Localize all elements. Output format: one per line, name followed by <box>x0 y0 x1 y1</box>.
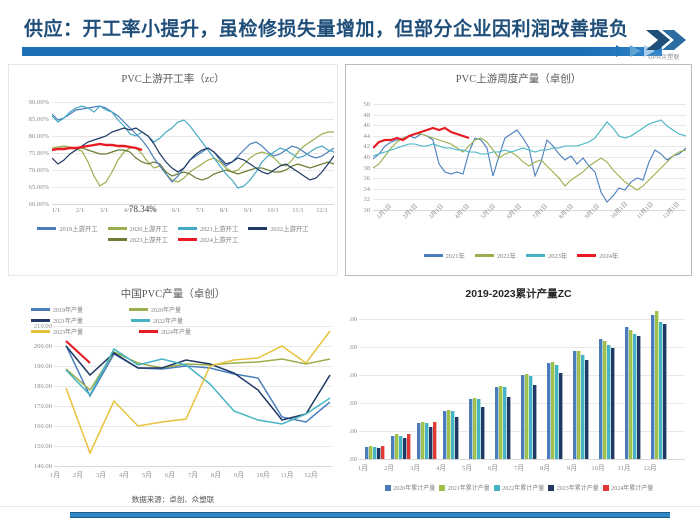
y-axis-tick: 90.00% <box>11 99 49 106</box>
x-axis-tick: 7/1 <box>189 207 211 214</box>
y-axis-tick: 65.00% <box>11 184 49 191</box>
x-axis-tick: 10/1 <box>261 207 285 214</box>
legend-swatch-icon <box>603 485 609 491</box>
source-note: 数据来源：卓创、众塑联 <box>8 494 338 505</box>
legend-label: 2023年累计产量 <box>557 483 599 492</box>
x-axis-tick: 11月 <box>611 462 637 472</box>
legend-item[interactable]: 2021上游开工 <box>178 224 238 233</box>
y-axis-tick: .00 <box>343 372 357 379</box>
legend-item[interactable]: 2024年累计产量 <box>603 483 654 492</box>
x-axis-tick: 9月 <box>559 462 585 472</box>
x-axis-tick: 10月 <box>251 469 275 479</box>
x-axis-tick: 3月 <box>90 469 112 479</box>
legend-label: 2022上游开工 <box>270 224 308 233</box>
legend-label: 2020上游开工 <box>130 224 168 233</box>
legend-swatch-icon <box>439 485 445 491</box>
y-axis-tick: .00 <box>343 428 357 435</box>
x-axis-tick: 12月 <box>637 462 663 472</box>
y-axis-tick: 30 <box>348 207 370 214</box>
x-axis-line <box>52 204 334 205</box>
x-axis-tick: 8月 <box>533 462 557 472</box>
legend-item[interactable]: 2024年 <box>577 251 618 260</box>
logo-text: UPA众塑联 <box>636 52 692 61</box>
legend-label: 2021年累计产量 <box>448 483 490 492</box>
x-axis-tick: 1月 <box>351 462 375 472</box>
chart1-plot <box>52 102 334 204</box>
title-accent-bar <box>22 47 662 56</box>
legend-swatch-icon <box>108 238 127 241</box>
legend-label: 2022年 <box>497 251 516 260</box>
legend-item[interactable]: 2020上游开工 <box>108 224 168 233</box>
x-axis-line <box>54 466 332 467</box>
slide-header: 供应：开工率小提升，虽检修损失量增加，但部分企业因利润改善提负 UPA众塑联 <box>0 0 700 62</box>
y-axis-tick: 42 <box>348 143 370 150</box>
x-axis-tick: 3/1 <box>93 207 115 214</box>
y-axis-tick: 44 <box>348 133 370 140</box>
chart-title: 中国PVC产量（卓创） <box>8 280 338 301</box>
legend-swatch-icon <box>129 308 148 311</box>
legend-swatch-icon <box>37 227 56 230</box>
legend-swatch-icon <box>108 227 127 230</box>
legend-item[interactable]: 2023年 <box>526 251 567 260</box>
legend-swatch-icon <box>31 308 50 311</box>
legend-swatch-icon <box>178 227 197 230</box>
y-axis-tick: 38 <box>348 165 370 172</box>
legend-label: 2023上游开工 <box>130 235 168 244</box>
legend-label: 2020年产量 <box>151 305 181 314</box>
y-axis-tick: .00 <box>343 400 357 407</box>
legend-label: 2024年累计产量 <box>611 483 653 492</box>
page-title: 供应：开工率小提升，虽检修损失量增加，但部分企业因利润改善提负 <box>24 14 684 41</box>
x-axis-tick: 7月 <box>182 469 204 479</box>
bar-group <box>365 311 666 459</box>
y-axis-tick: 85.00% <box>11 116 49 123</box>
legend-item[interactable]: 2020年累计产量 <box>385 483 436 492</box>
legend-label: 2021年 <box>446 251 465 260</box>
y-axis-tick: 34 <box>348 186 370 193</box>
legend-swatch-icon <box>548 485 554 491</box>
chart-title: PVC上游开工率（zc） <box>9 65 337 86</box>
x-axis-tick: 4月 <box>429 462 453 472</box>
y-axis-tick: 80.00% <box>11 133 49 140</box>
legend-item[interactable]: 2020年产量 <box>129 305 227 314</box>
y-axis-tick: 210.00 <box>10 323 52 330</box>
x-axis-tick: 5月 <box>136 469 158 479</box>
x-axis-tick: 10月 <box>585 462 611 472</box>
x-axis-tick: 4/1 <box>117 207 139 214</box>
y-axis-tick: .00 <box>343 344 357 351</box>
chart1-legend: 2019上游开工 2020上游开工 2021上游开工 2022上游开工 2023… <box>23 223 323 245</box>
x-axis-tick: 7月 <box>507 462 531 472</box>
footer-divider <box>0 506 700 507</box>
legend-swatch-icon <box>31 330 50 333</box>
x-axis-tick: 8月 <box>205 469 227 479</box>
legend-label: 2024上游开工 <box>200 235 238 244</box>
chart2-plot <box>373 104 686 210</box>
x-axis-tick: 2月 <box>377 462 401 472</box>
legend-item[interactable]: 2022年产量 <box>131 316 219 325</box>
legend-item[interactable]: 2019年产量 <box>31 305 119 314</box>
legend-item[interactable]: 2022上游开工 <box>248 224 308 233</box>
x-axis-tick: 8/1 <box>213 207 235 214</box>
x-axis-tick: 5/1 <box>141 207 163 214</box>
legend-label: 2023年 <box>548 251 567 260</box>
legend-label: 2020年累计产量 <box>393 483 435 492</box>
x-axis-tick: 9月 <box>228 469 250 479</box>
legend-item[interactable]: 2021年 <box>424 251 465 260</box>
legend-swatch-icon <box>475 254 494 257</box>
y-axis-tick: 50 <box>348 101 370 108</box>
y-axis-tick: 200.00 <box>10 343 52 350</box>
legend-label: 2021上游开工 <box>200 224 238 233</box>
legend-swatch-icon <box>385 485 391 491</box>
y-axis-tick: 70.00% <box>11 167 49 174</box>
x-axis-tick: 1/1 <box>45 207 67 214</box>
x-axis-tick: 5月 <box>455 462 479 472</box>
legend-label: 2024年 <box>599 251 618 260</box>
x-axis-tick: 2月 <box>67 469 89 479</box>
legend-swatch-icon <box>131 319 150 322</box>
legend-item[interactable]: 2021年累计产量 <box>439 483 490 492</box>
y-axis-tick: 180.00 <box>10 383 52 390</box>
chart2-legend: 2021年 2022年 2023年 2024年 <box>386 250 656 261</box>
legend-item[interactable]: 2022年累计产量 <box>494 483 545 492</box>
chart-panel-cumulative-output: 2019-2023累计产量ZC .00 .00 .00 .00 .00 .00 <box>345 280 692 495</box>
chevron-right-icon <box>616 45 627 57</box>
y-axis-tick: 32 <box>348 196 370 203</box>
legend-item[interactable]: 2024上游开工 <box>178 235 238 244</box>
footer-accent-bar <box>70 512 670 518</box>
x-axis-tick: 11月 <box>275 469 299 479</box>
legend-swatch-icon <box>577 254 596 257</box>
x-axis-tick: 4月 <box>113 469 135 479</box>
y-axis-tick: 46 <box>348 122 370 129</box>
x-axis-tick: 1月 <box>44 469 66 479</box>
x-axis-tick: 6月 <box>481 462 505 472</box>
legend-item[interactable]: 2019上游开工 <box>37 224 97 233</box>
legend-swatch-icon <box>526 254 545 257</box>
y-axis-tick: 160.00 <box>10 423 52 430</box>
x-axis-tick: 6月 <box>159 469 181 479</box>
x-axis-tick: 6/1 <box>165 207 187 214</box>
legend-swatch-icon <box>178 238 197 241</box>
chart-panel-china-pvc-output: 中国PVC产量（卓创） 2019年产量 2020年产量 2021年产量 2022… <box>8 280 338 495</box>
legend-item[interactable]: 2023年累计产量 <box>548 483 599 492</box>
x-axis-tick: 3月 <box>403 462 427 472</box>
y-axis-tick: .00 <box>343 316 357 323</box>
x-axis-tick: 11/1 <box>286 207 310 214</box>
chart-title: PVC上游周度产量（卓创） <box>346 65 691 86</box>
legend-item[interactable]: 2022年 <box>475 251 516 260</box>
legend-swatch-icon <box>248 227 267 230</box>
y-axis-tick: 48 <box>348 112 370 119</box>
legend-label: 2022年累计产量 <box>502 483 544 492</box>
x-axis-tick: 12月 <box>299 469 323 479</box>
x-axis-tick: 12/1 <box>310 207 334 214</box>
y-axis-tick: 190.00 <box>10 363 52 370</box>
chart-panel-weekly-output: PVC上游周度产量（卓创） 50 48 46 44 42 40 38 36 34… <box>345 64 692 276</box>
upa-logo: UPA众塑联 <box>636 28 692 62</box>
y-axis-tick: 36 <box>348 175 370 182</box>
legend-label: 2019上游开工 <box>59 224 97 233</box>
legend-swatch-icon <box>31 319 50 322</box>
legend-swatch-icon <box>424 254 443 257</box>
x-axis-tick: 9/1 <box>237 207 259 214</box>
y-axis-tick: 75.00% <box>11 150 49 157</box>
x-axis-line <box>359 459 685 460</box>
legend-label: 2022年产量 <box>153 316 183 325</box>
chart4-plot <box>359 300 685 459</box>
chart3-plot <box>54 326 332 466</box>
y-axis-tick: 60.00% <box>11 201 49 208</box>
legend-label: 2021年产量 <box>53 316 83 325</box>
chart-panel-upstream-operating-rate: PVC上游开工率（zc） 90.00% 85.00% 80.00% 75.00%… <box>8 64 338 276</box>
legend-item[interactable]: 2023上游开工 <box>108 235 168 244</box>
y-axis-tick: 40 <box>348 154 370 161</box>
chart4-legend: 2020年累计产量 2021年累计产量 2022年累计产量 2023年累计产量 … <box>349 483 689 492</box>
legend-label: 2019年产量 <box>53 305 83 314</box>
logo-mark-icon <box>644 28 686 52</box>
legend-swatch-icon <box>494 485 500 491</box>
x-axis-tick: 2/1 <box>69 207 91 214</box>
chart-title: 2019-2023累计产量ZC <box>345 280 692 301</box>
y-axis-tick: 170.00 <box>10 403 52 410</box>
y-axis-tick: 150.00 <box>10 443 52 450</box>
